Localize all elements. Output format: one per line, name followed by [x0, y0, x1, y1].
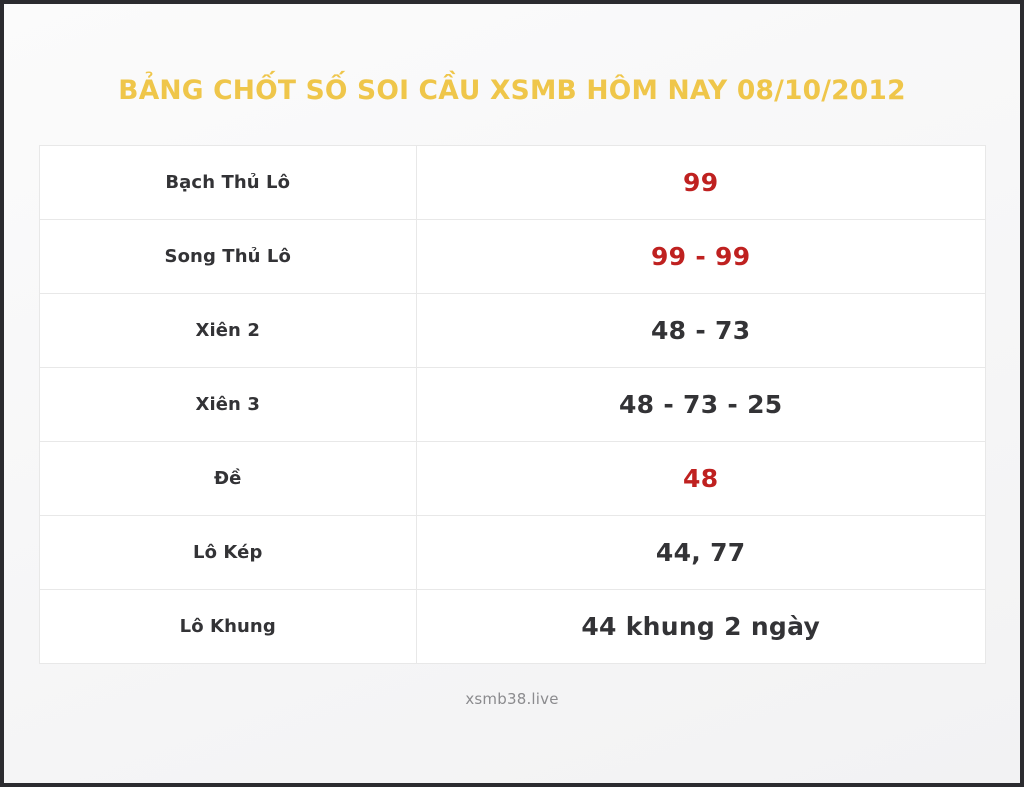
row-label: Lô Khung: [39, 590, 416, 664]
row-label: Đề: [39, 442, 416, 516]
row-value: 99 - 99: [416, 220, 985, 294]
row-value: 99: [416, 146, 985, 220]
table-row: Xiên 248 - 73: [39, 294, 985, 368]
row-label: Lô Kép: [39, 516, 416, 590]
prediction-table-container: Bạch Thủ Lô99Song Thủ Lô99 - 99Xiên 248 …: [39, 145, 986, 664]
row-label: Song Thủ Lô: [39, 220, 416, 294]
row-value: 44, 77: [416, 516, 985, 590]
row-label: Bạch Thủ Lô: [39, 146, 416, 220]
row-value: 48: [416, 442, 985, 516]
table-row: Song Thủ Lô99 - 99: [39, 220, 985, 294]
table-row: Đề48: [39, 442, 985, 516]
row-value: 48 - 73: [416, 294, 985, 368]
site-watermark: xsmb38.live: [465, 690, 558, 708]
row-value: 44 khung 2 ngày: [416, 590, 985, 664]
table-row: Xiên 348 - 73 - 25: [39, 368, 985, 442]
table-row: Lô Khung44 khung 2 ngày: [39, 590, 985, 664]
row-label: Xiên 2: [39, 294, 416, 368]
prediction-table: Bạch Thủ Lô99Song Thủ Lô99 - 99Xiên 248 …: [39, 145, 986, 664]
prediction-table-body: Bạch Thủ Lô99Song Thủ Lô99 - 99Xiên 248 …: [39, 146, 985, 664]
table-row: Lô Kép44, 77: [39, 516, 985, 590]
table-row: Bạch Thủ Lô99: [39, 146, 985, 220]
row-label: Xiên 3: [39, 368, 416, 442]
page-title: BẢNG CHỐT SỐ SOI CẦU XSMB HÔM NAY 08/10/…: [118, 76, 905, 105]
row-value: 48 - 73 - 25: [416, 368, 985, 442]
page-root: BẢNG CHỐT SỐ SOI CẦU XSMB HÔM NAY 08/10/…: [0, 0, 1024, 787]
